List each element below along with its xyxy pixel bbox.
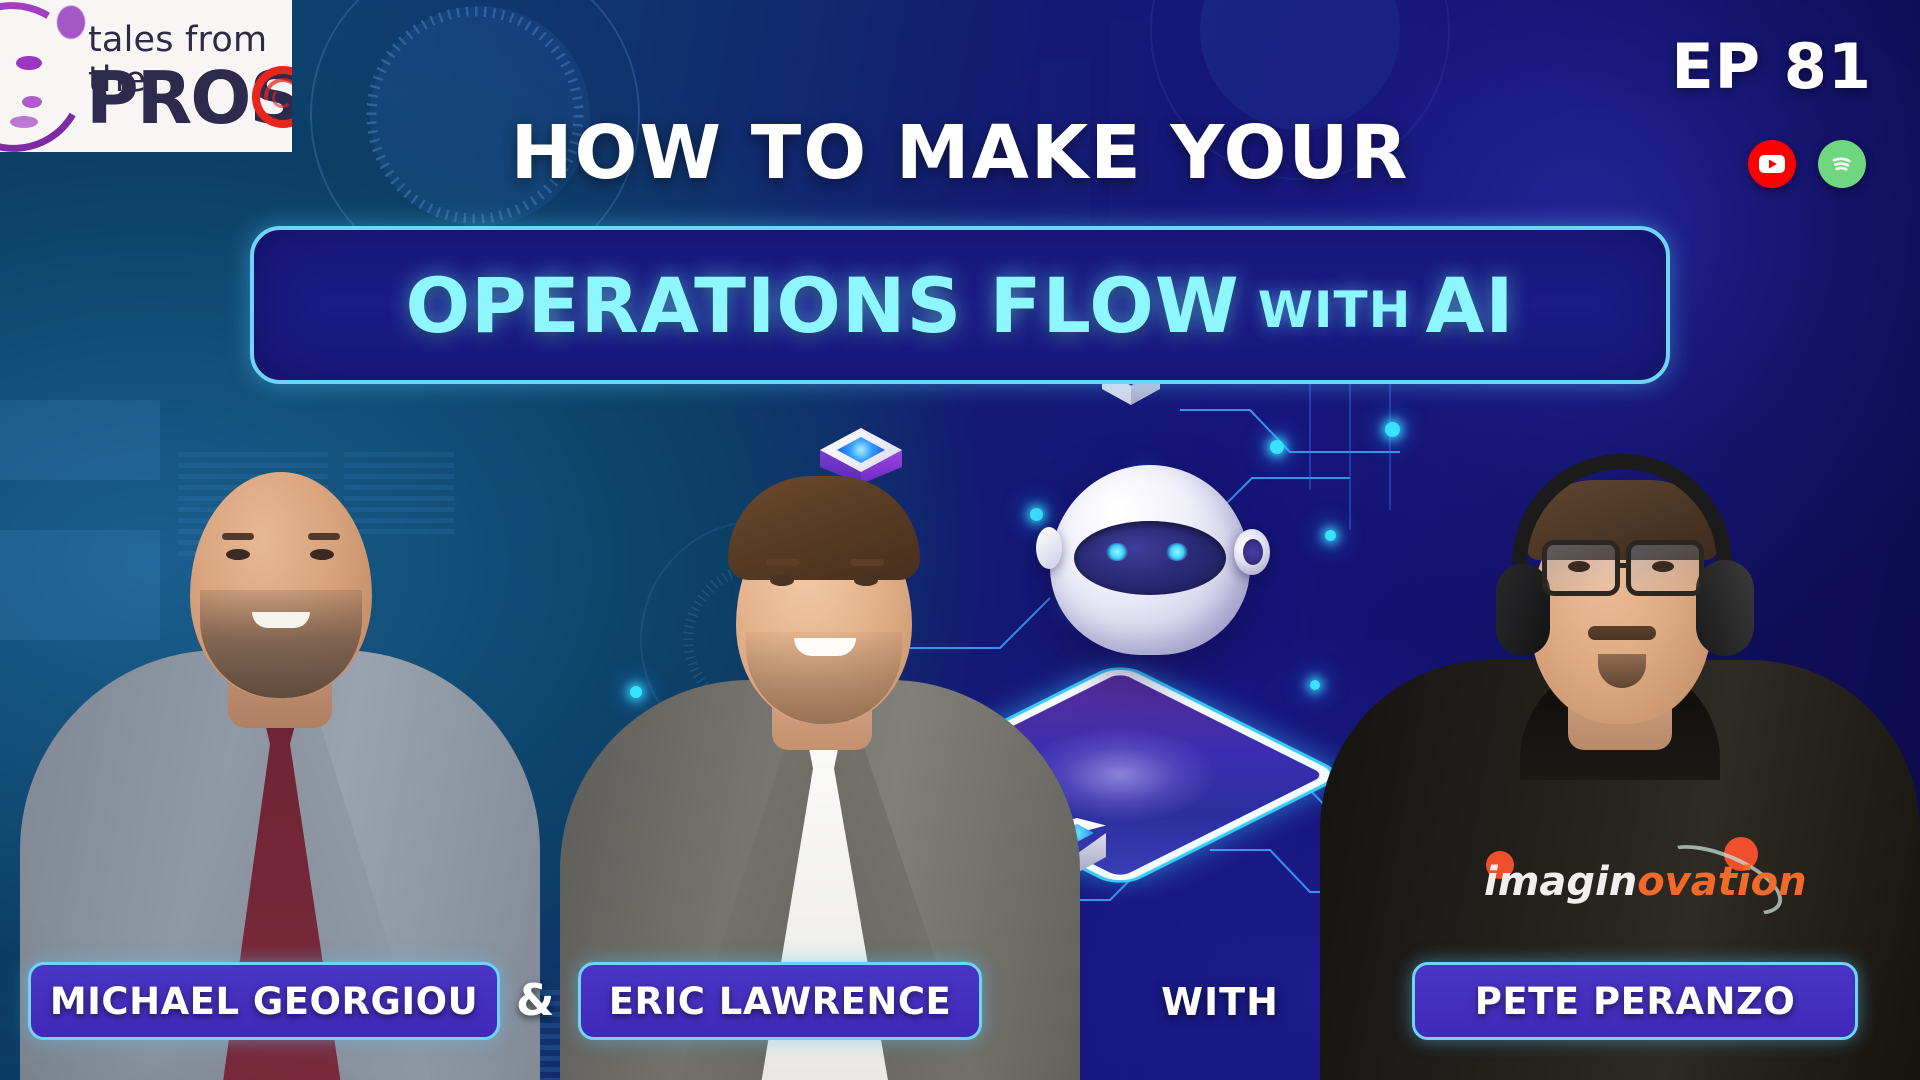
sponsor-logo-part1: imagin <box>1484 859 1637 905</box>
subtitle-banner: OPERATIONS FLOW WITH AI <box>250 226 1670 384</box>
sponsor-logo-text: imaginovation <box>1484 859 1807 905</box>
name-pill-michael-georgiou[interactable]: MICHAEL GEORGIOU <box>28 962 500 1040</box>
subtitle-connector: WITH <box>1258 281 1412 339</box>
name-pill-pete-peranzo[interactable]: PETE PERANZO <box>1412 962 1858 1040</box>
sponsor-logo-part2: ovation <box>1637 859 1806 905</box>
episode-number-label: EP 81 <box>1671 30 1872 103</box>
name-label: ERIC LAWRENCE <box>609 980 952 1023</box>
name-pill-eric-lawrence[interactable]: ERIC LAWRENCE <box>578 962 982 1040</box>
logo-speck <box>16 56 42 70</box>
page-title: HOW TO MAKE YOUR <box>0 110 1920 196</box>
connector-ampersand: & <box>516 975 554 1026</box>
sponsor-hoodie-logo: imaginovation <box>1462 855 1792 915</box>
red-swirl-core-icon <box>272 88 292 108</box>
subtitle-main: OPERATIONS FLOW <box>405 261 1239 350</box>
subtitle-tail: AI <box>1425 261 1514 350</box>
logo-speck <box>22 96 42 108</box>
name-label: PETE PERANZO <box>1475 980 1796 1023</box>
name-label: MICHAEL GEORGIOU <box>50 980 478 1023</box>
connector-with: WITH <box>1120 980 1320 1024</box>
thumbnail-canvas: tales from the PROS EP 81 HOW TO MAKE YO… <box>0 0 1920 1080</box>
